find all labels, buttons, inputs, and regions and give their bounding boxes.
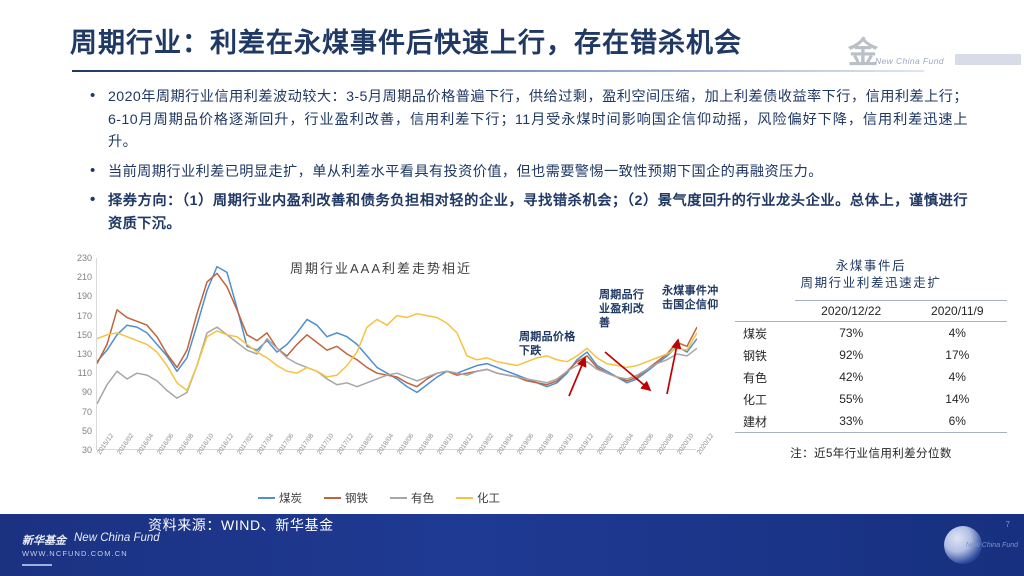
table-row: 建材33%6% bbox=[735, 410, 1007, 433]
table-cell-value-2: 14% bbox=[908, 388, 1007, 410]
table-col-head-0 bbox=[735, 301, 795, 322]
footer-logo-en: New China Fund bbox=[74, 532, 160, 544]
legend-swatch-icon bbox=[258, 497, 275, 500]
footer-mark-text: New China Fund bbox=[966, 542, 1018, 549]
percentile-table: 2020/12/22 2020/11/9 煤炭73%4%钢铁92%17%有色42… bbox=[735, 300, 1007, 433]
table-note: 注：近5年行业信用利差分位数 bbox=[735, 445, 1007, 461]
slide-root: 周期行业：利差在永煤事件后快速上行，存在错杀机会 金 New China Fun… bbox=[0, 0, 1024, 576]
footer-logo-cn: 新华基金 bbox=[22, 532, 66, 548]
legend-swatch-icon bbox=[390, 497, 407, 500]
y-axis-tick: 30 bbox=[82, 445, 92, 455]
table-title-line2: 周期行业利差迅速走扩 bbox=[735, 275, 1007, 292]
table-row: 有色42%4% bbox=[735, 366, 1007, 388]
table-cell-value-1: 33% bbox=[795, 410, 908, 433]
page-title: 周期行业：利差在永煤事件后快速上行，存在错杀机会 bbox=[70, 22, 970, 64]
table-cell-name: 煤炭 bbox=[735, 322, 795, 345]
title-bar: 周期行业：利差在永煤事件后快速上行，存在错杀机会 bbox=[70, 22, 970, 68]
series-line-有色 bbox=[97, 327, 697, 404]
table-cell-value-1: 92% bbox=[795, 344, 908, 366]
y-axis-tick: 150 bbox=[77, 330, 92, 340]
table-title: 永煤事件后 周期行业利差迅速走扩 bbox=[735, 258, 1007, 292]
bullet-list: 2020年周期行业信用利差波动较大：3-5月周期品价格普遍下行，供给过剩，盈利空… bbox=[86, 86, 968, 242]
table-cell-value-1: 42% bbox=[795, 366, 908, 388]
table-cell-value-2: 4% bbox=[908, 366, 1007, 388]
y-axis-tick: 110 bbox=[78, 368, 92, 378]
annotation-profit-improve: 周期品行业盈利改善 bbox=[599, 288, 647, 330]
annotation-yongmei-event: 永煤事件冲击国企信仰 bbox=[662, 284, 728, 312]
bullet-item-3: 择券方向：（1）周期行业内盈利改善和债务负担相对轻的企业，寻找错杀机会；（2）景… bbox=[86, 190, 968, 235]
table-cell-value-2: 17% bbox=[908, 344, 1007, 366]
y-axis-tick: 210 bbox=[77, 272, 92, 282]
y-axis-tick: 230 bbox=[77, 253, 92, 263]
legend-item[interactable]: 钢铁 bbox=[324, 490, 368, 506]
table-row: 煤炭73%4% bbox=[735, 322, 1007, 345]
title-underline bbox=[72, 70, 924, 72]
legend-item[interactable]: 煤炭 bbox=[258, 490, 302, 506]
table-cell-name: 有色 bbox=[735, 366, 795, 388]
brand-bar bbox=[955, 54, 1021, 65]
y-axis-tick: 50 bbox=[82, 426, 92, 436]
table-cell-value-1: 73% bbox=[795, 322, 908, 345]
y-axis: 30507090110130150170190210230 bbox=[60, 258, 94, 450]
series-svg bbox=[97, 258, 697, 450]
table-cell-value-1: 55% bbox=[795, 388, 908, 410]
table-col-head-1: 2020/12/22 bbox=[795, 301, 908, 322]
table-title-line1: 永煤事件后 bbox=[735, 258, 1007, 275]
table-cell-name: 建材 bbox=[735, 410, 795, 433]
legend-item[interactable]: 化工 bbox=[456, 490, 500, 506]
y-axis-tick: 190 bbox=[77, 291, 92, 301]
bullet-item-2: 当前周期行业利差已明显走扩，单从利差水平看具有投资价值，但也需要警惕一致性预期下… bbox=[86, 161, 968, 184]
y-axis-tick: 90 bbox=[82, 387, 92, 397]
chart-plot-wrap: 30507090110130150170190210230 2015/12201… bbox=[60, 252, 720, 480]
source-note: 资料来源：WIND、新华基金 bbox=[148, 515, 334, 535]
legend-item[interactable]: 有色 bbox=[390, 490, 434, 506]
y-axis-tick: 70 bbox=[82, 407, 92, 417]
table-header-row: 2020/12/22 2020/11/9 bbox=[735, 301, 1007, 322]
brand-glyph-icon: 金 bbox=[848, 28, 878, 72]
legend-label: 钢铁 bbox=[345, 490, 368, 506]
footer-rule bbox=[22, 564, 52, 566]
table-row: 化工55%14% bbox=[735, 388, 1007, 410]
table-cell-value-2: 6% bbox=[908, 410, 1007, 433]
table-col-head-2: 2020/11/9 bbox=[908, 301, 1007, 322]
table-cell-name: 化工 bbox=[735, 388, 795, 410]
table-cell-value-2: 4% bbox=[908, 322, 1007, 345]
brand-watermark: New China Fund bbox=[875, 56, 944, 66]
legend-swatch-icon bbox=[324, 497, 341, 500]
table-body: 煤炭73%4%钢铁92%17%有色42%4%化工55%14%建材33%6% bbox=[735, 322, 1007, 433]
table-header: 2020/12/22 2020/11/9 bbox=[735, 301, 1007, 322]
table-cell-name: 钢铁 bbox=[735, 344, 795, 366]
bullet-item-1: 2020年周期行业信用利差波动较大：3-5月周期品价格普遍下行，供给过剩，盈利空… bbox=[86, 86, 968, 154]
chart-legend: 煤炭钢铁有色化工 bbox=[258, 490, 500, 506]
footer-url: WWW.NCFUND.COM.CN bbox=[22, 549, 128, 558]
data-table-panel: 永煤事件后 周期行业利差迅速走扩 2020/12/22 2020/11/9 煤炭… bbox=[735, 258, 1007, 461]
legend-label: 有色 bbox=[411, 490, 434, 506]
y-axis-tick: 130 bbox=[77, 349, 92, 359]
legend-label: 煤炭 bbox=[279, 490, 302, 506]
y-axis-tick: 170 bbox=[77, 311, 92, 321]
page-number: 7 bbox=[1006, 520, 1010, 529]
legend-label: 化工 bbox=[477, 490, 500, 506]
legend-swatch-icon bbox=[456, 497, 473, 500]
x-axis-tick: 2020/12 bbox=[696, 432, 715, 456]
plot-area bbox=[96, 258, 696, 450]
annotation-price-drop: 周期品价格下跌 bbox=[519, 330, 581, 358]
table-row: 钢铁92%17% bbox=[735, 344, 1007, 366]
